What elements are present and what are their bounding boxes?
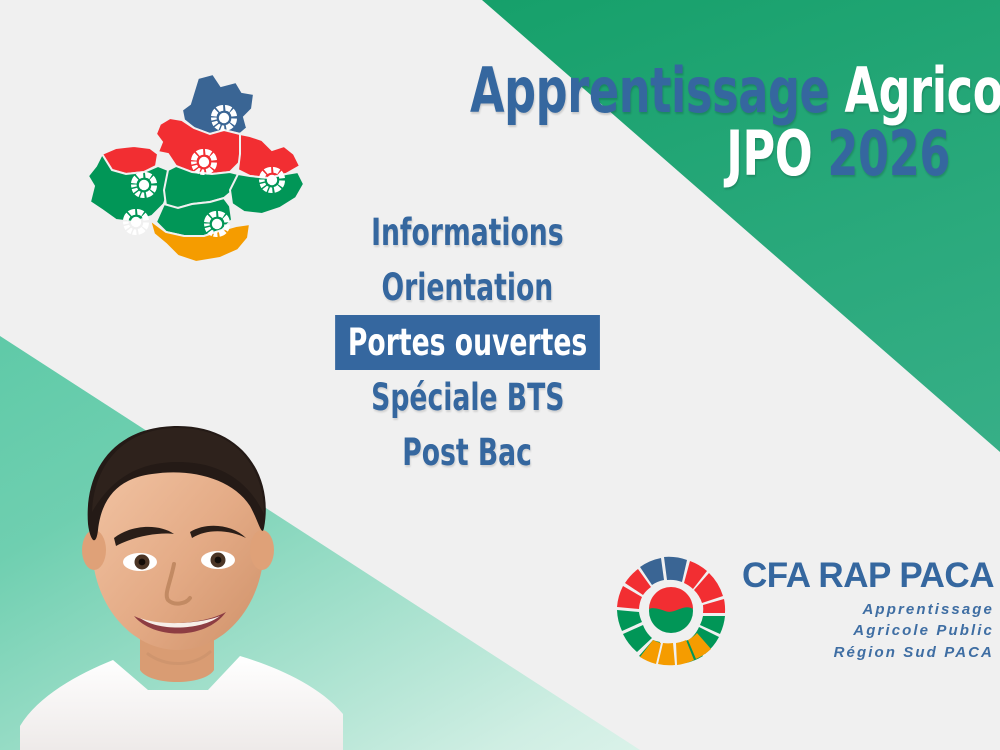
menu-item-post-bac[interactable]: Post Bac: [401, 425, 534, 480]
logo-seg-blue-1: [664, 557, 687, 582]
menu-item-orientation[interactable]: Orientation: [380, 260, 555, 315]
title-line-2: JPO 2026: [470, 125, 950, 184]
menu-item-portes-ouvertes[interactable]: Portes ouvertes: [335, 315, 600, 370]
title-year: 2026: [827, 117, 950, 190]
sunburst-wheel-emblem: [612, 552, 730, 670]
poster-menu: Informations Orientation Portes ouvertes…: [300, 205, 635, 480]
portrait-ear-right: [250, 530, 274, 570]
logo-text-block: CFA RAP PACA Apprentissage Agricole Publ…: [742, 552, 994, 663]
logo-title: CFA RAP PACA: [742, 558, 994, 593]
cfa-rap-paca-logo[interactable]: CFA RAP PACA Apprentissage Agricole Publ…: [612, 552, 942, 682]
paca-region-map: [72, 62, 322, 277]
menu-item-speciale-bts[interactable]: Spéciale BTS: [369, 370, 565, 425]
student-portrait: [18, 378, 343, 750]
logo-tagline-3: Région Sud PACA: [742, 642, 994, 663]
map-region-southeast: [230, 172, 304, 214]
title-jpo: JPO: [726, 117, 812, 190]
title-line-1: Apprentissage Agricole: [470, 62, 950, 121]
menu-item-informations[interactable]: Informations: [370, 205, 566, 260]
poster-canvas: Apprentissage Agricole JPO 2026 Informat…: [0, 0, 1000, 750]
logo-tagline-2: Agricole Public: [742, 620, 994, 641]
logo-tagline-1: Apprentissage: [742, 599, 994, 620]
logo-taglines: Apprentissage Agricole Public Région Sud…: [742, 599, 994, 663]
